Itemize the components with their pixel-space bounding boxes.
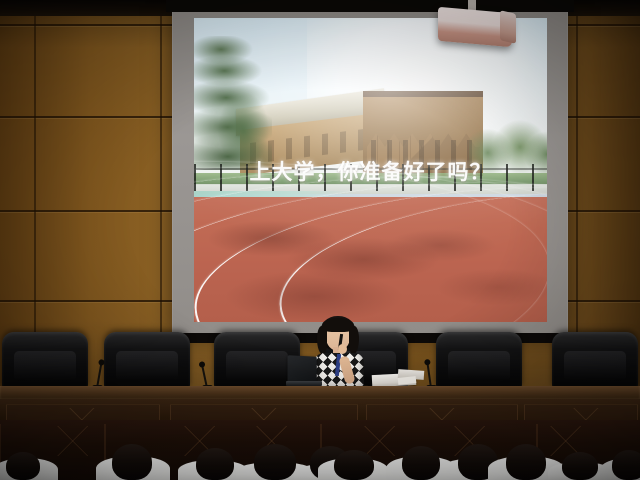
attendee-head bbox=[402, 446, 440, 480]
presenter-hair-left bbox=[317, 326, 327, 354]
attendee-head bbox=[612, 450, 640, 480]
slide-running-track bbox=[194, 197, 547, 322]
attendee-head bbox=[6, 452, 40, 480]
head-table-top bbox=[0, 386, 640, 400]
presenter-hair-right bbox=[349, 326, 359, 354]
chair bbox=[104, 332, 190, 388]
projected-slide: 上大学，你准备好了吗？ bbox=[194, 18, 547, 322]
attendee-head bbox=[562, 452, 598, 480]
projector-lens-side bbox=[500, 10, 516, 43]
attendee-head bbox=[254, 444, 296, 480]
laptop bbox=[288, 355, 317, 383]
chair bbox=[436, 332, 522, 388]
chair bbox=[552, 332, 638, 388]
attendee-head bbox=[506, 444, 546, 480]
chair bbox=[2, 332, 88, 388]
attendee-head bbox=[334, 450, 374, 480]
slide-title: 上大学，你准备好了吗？ bbox=[194, 156, 547, 186]
projection-screen: 上大学，你准备好了吗？ bbox=[172, 6, 568, 336]
audience-row bbox=[0, 416, 640, 480]
presenter-hand bbox=[338, 344, 347, 354]
attendee-head bbox=[196, 448, 234, 480]
projector-icon bbox=[438, 6, 516, 48]
attendee-head bbox=[112, 444, 152, 480]
auditorium-photo: 上大学，你准备好了吗？ bbox=[0, 0, 640, 480]
